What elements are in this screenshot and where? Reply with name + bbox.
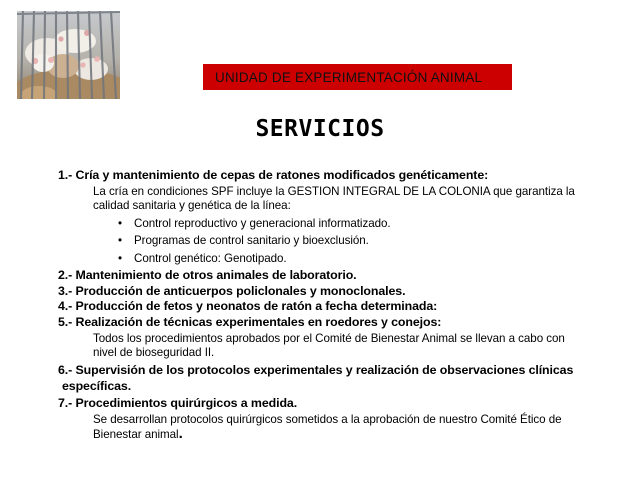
service-item-2: 2.- Mantenimiento de otros animales de l… (58, 268, 586, 284)
service-item-heading: 7.- Procedimientos quirúrgicos a medida. (58, 396, 586, 412)
service-item-description: Se desarrollan protocolos quirúrgicos so… (93, 413, 586, 442)
slide: UNIDAD DE EXPERIMENTACIÓN ANIMAL SERVICI… (0, 0, 640, 480)
service-item-heading: 4.- Producción de fetos y neonatos de ra… (58, 299, 586, 315)
service-item-heading: 2.- Mantenimiento de otros animales de l… (58, 268, 586, 284)
service-item-5: 5.- Realización de técnicas experimental… (58, 315, 586, 360)
bullet-icon: • (118, 215, 122, 232)
service-item-heading: 3.- Producción de anticuerpos policlonal… (58, 284, 586, 300)
list-item: •Control genético: Genotipado. (118, 250, 586, 267)
service-item-description-final-mark: . (179, 425, 183, 442)
service-item-4: 4.- Producción de fetos y neonatos de ra… (58, 299, 586, 315)
service-item-3: 3.- Producción de anticuerpos policlonal… (58, 284, 586, 300)
photo-illustration (17, 11, 120, 99)
unit-banner: UNIDAD DE EXPERIMENTACIÓN ANIMAL (203, 64, 512, 90)
service-item-bullets: •Control reproductivo y generacional inf… (58, 215, 586, 267)
service-item-1: 1.- Cría y mantenimiento de cepas de rat… (58, 168, 586, 267)
page-title: SERVICIOS (0, 116, 640, 142)
service-item-heading: 6.- Supervisión de los protocolos experi… (58, 363, 586, 394)
list-item-label: Control genético: Genotipado. (134, 252, 287, 265)
service-item-heading: 1.- Cría y mantenimiento de cepas de rat… (58, 168, 586, 184)
service-item-7: 7.- Procedimientos quirúrgicos a medida.… (58, 396, 586, 442)
service-item-6: 6.- Supervisión de los protocolos experi… (58, 363, 586, 394)
service-item-description: Todos los procedimientos aprobados por e… (93, 332, 586, 360)
service-item-description: La cría en condiciones SPF incluye la GE… (93, 185, 586, 213)
list-item-label: Control reproductivo y generacional info… (134, 217, 391, 230)
list-item-label: Programas de control sanitario y bioexcl… (134, 234, 369, 247)
services-list: 1.- Cría y mantenimiento de cepas de rat… (58, 168, 586, 442)
rats-in-cage-photo (17, 11, 120, 99)
bullet-icon: • (118, 250, 122, 267)
service-item-description-text: Se desarrollan protocolos quirúrgicos so… (93, 413, 562, 441)
list-item: •Control reproductivo y generacional inf… (118, 215, 586, 232)
service-item-heading: 5.- Realización de técnicas experimental… (58, 315, 586, 331)
list-item: •Programas de control sanitario y bioexc… (118, 232, 586, 249)
unit-banner-text: UNIDAD DE EXPERIMENTACIÓN ANIMAL (215, 70, 482, 85)
bullet-icon: • (118, 232, 122, 249)
